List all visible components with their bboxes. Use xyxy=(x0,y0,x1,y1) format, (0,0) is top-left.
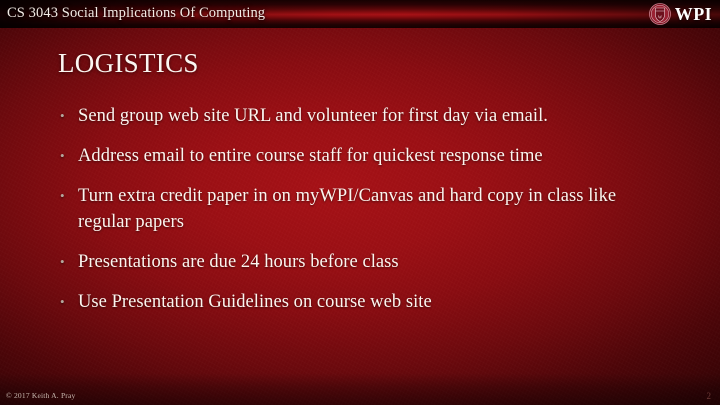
list-item: • Address email to entire course staff f… xyxy=(58,143,658,169)
bullet-text: Use Presentation Guidelines on course we… xyxy=(78,289,658,315)
list-item: • Presentations are due 24 hours before … xyxy=(58,249,658,275)
page-number: 2 xyxy=(707,391,712,401)
list-item: • Send group web site URL and volunteer … xyxy=(58,103,658,129)
bullet-text: Send group web site URL and volunteer fo… xyxy=(78,103,658,129)
bullet-dot-icon: • xyxy=(58,143,78,169)
bullet-text: Turn extra credit paper in on myWPI/Canv… xyxy=(78,183,658,235)
list-item: • Use Presentation Guidelines on course … xyxy=(58,289,658,315)
bullet-text: Address email to entire course staff for… xyxy=(78,143,658,169)
bullet-dot-icon: • xyxy=(58,103,78,129)
list-item: • Turn extra credit paper in on myWPI/Ca… xyxy=(58,183,658,235)
course-title: CS 3043 Social Implications Of Computing xyxy=(7,0,265,28)
wpi-seal-icon: W xyxy=(649,3,671,25)
slide-title: LOGISTICS xyxy=(58,48,199,79)
bullet-dot-icon: • xyxy=(58,249,78,275)
wpi-logo: W WPI xyxy=(649,1,712,27)
footer-band xyxy=(0,373,720,405)
bullet-text: Presentations are due 24 hours before cl… xyxy=(78,249,658,275)
copyright-notice: © 2017 Keith A. Pray xyxy=(6,391,76,400)
presentation-slide: CS 3043 Social Implications Of Computing… xyxy=(0,0,720,405)
bullet-dot-icon: • xyxy=(58,183,78,209)
bullet-list: • Send group web site URL and volunteer … xyxy=(58,103,658,329)
bullet-dot-icon: • xyxy=(58,289,78,315)
wpi-wordmark: WPI xyxy=(675,3,712,25)
